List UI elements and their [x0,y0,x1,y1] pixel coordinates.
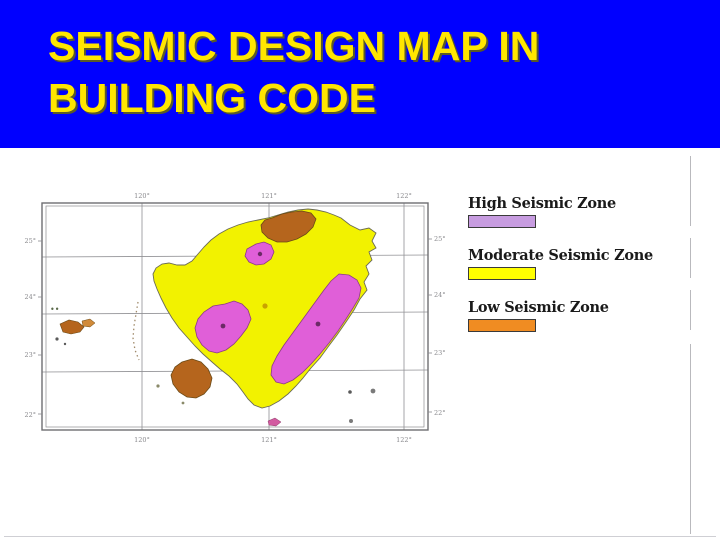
axis-right-tick: 23° [434,349,446,357]
penghu-label: •• [50,305,59,314]
legend-swatch-high [468,215,536,228]
axis-left-tick: 25° [24,237,36,245]
edge-rule-segment [690,344,691,534]
legend-item-high-seismic-zone: High Seismic Zone [468,196,616,228]
seismic-zone-map: •• 120° 121° 122° 120° [20,186,450,448]
axis-bottom-tick: 122° [396,436,412,444]
city-marker-east [316,322,321,327]
offshore-islet [182,402,185,405]
penghu-islet [55,337,58,340]
axis-top-tick: 121° [261,192,277,200]
offshore-islet [156,384,159,387]
offshore-islet [371,389,376,394]
edge-rule-segment [690,238,691,278]
map-svg: •• 120° 121° 122° 120° [20,186,450,448]
legend-swatch-moderate [468,267,536,280]
legend-label-low: Low Seismic Zone [468,300,609,316]
axis-right-tick: 22° [434,409,446,417]
axis-right-tick: 24° [434,291,446,299]
axis-left-tick: 23° [24,351,36,359]
axis-left-tick: 24° [24,293,36,301]
legend-item-moderate-seismic-zone: Moderate Seismic Zone [468,248,653,280]
axis-top-tick: 120° [134,192,150,200]
axis-right-tick: 25° [434,235,446,243]
slide-bottom-rule [4,536,716,537]
legend-label-moderate: Moderate Seismic Zone [468,248,653,264]
city-marker-taichung [262,303,267,308]
edge-rule-segment [690,156,691,226]
page-title: SEISMIC DESIGN MAP IN BUILDING CODE [48,20,688,124]
axis-bottom-tick: 121° [261,436,277,444]
city-marker-central [221,324,226,329]
offshore-islet [348,390,352,394]
city-marker-taipei [258,252,262,256]
slide-canvas: SEISMIC DESIGN MAP IN BUILDING CODE [0,0,720,540]
offshore-islet [349,419,353,423]
axis-bottom-tick: 120° [134,436,150,444]
legend-label-high: High Seismic Zone [468,196,616,212]
axis-left-tick: 22° [24,411,36,419]
penghu-islet [64,343,66,345]
axis-top-tick: 122° [396,192,412,200]
legend-item-low-seismic-zone: Low Seismic Zone [468,300,609,332]
legend-swatch-low [468,319,536,332]
title-banner: SEISMIC DESIGN MAP IN BUILDING CODE [0,0,720,148]
edge-rule-segment [690,290,691,330]
